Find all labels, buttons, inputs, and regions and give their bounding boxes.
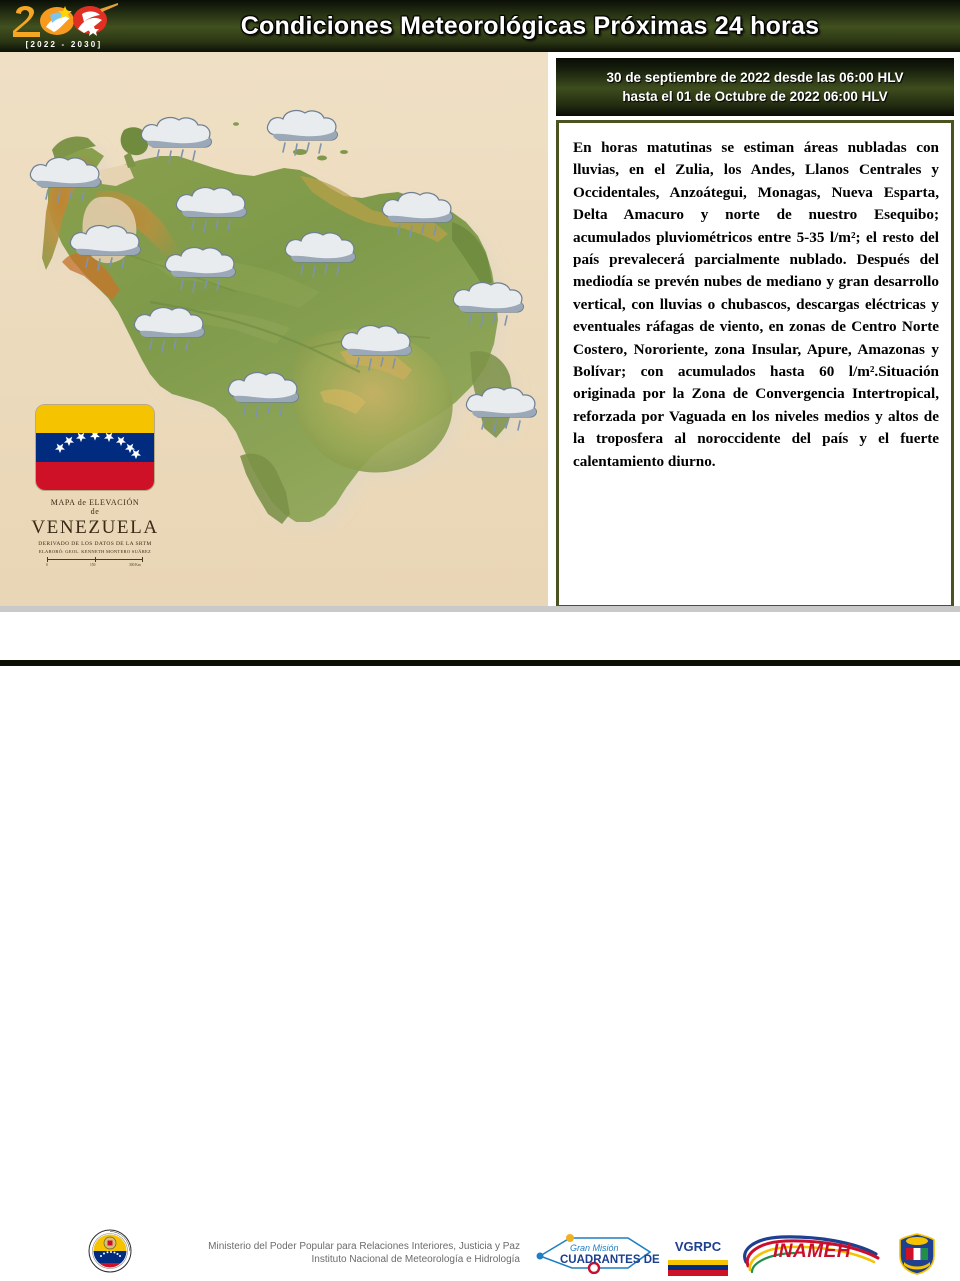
page-footer: Ministerio del Poder Popular para Relaci… (0, 612, 960, 666)
rain-cloud-icon (62, 220, 146, 276)
rain-cloud-icon (168, 182, 252, 238)
bicentennial-200-logo: [2022 - 2030] (10, 3, 118, 49)
page-title: Condiciones Meteorológicas Próximas 24 h… (120, 0, 940, 52)
scale-label-150: 150 (90, 563, 95, 567)
map-caption-line4: ELABORÓ: GEOL. KENNETH MONTERO SUÁREZ (20, 549, 170, 554)
logo-years-label: [2022 - 2030] (10, 40, 118, 49)
rain-cloud-icon (374, 187, 458, 243)
rain-cloud-icon (22, 152, 106, 208)
venezuela-government-seal (88, 1229, 132, 1273)
bottom-strip (0, 660, 960, 666)
rain-cloud-icon (126, 302, 210, 358)
inameh-logo: INAMEH (736, 1232, 886, 1276)
flag-stars (36, 433, 154, 461)
inameh-label: INAMEH (758, 1241, 866, 1263)
vgrpc-label: VGRPC (668, 1232, 728, 1260)
valid-period-line1: 30 de septiembre de 2022 desde las 06:00… (607, 68, 904, 87)
vgrpc-logo: VGRPC (668, 1232, 728, 1276)
page-header: [2022 - 2030] Condiciones Meteorológicas… (0, 0, 960, 52)
svg-text:Gran Misión: Gran Misión (570, 1243, 619, 1253)
map-caption-title: VENEZUELA (20, 517, 170, 539)
rain-cloud-icon (277, 227, 361, 283)
valid-period-line2: hasta el 01 de Octubre de 2022 06:00 HLV (622, 87, 887, 106)
flag-stripe-red (36, 462, 154, 490)
map-caption-line1: MAPA de ELEVACIÓN (20, 498, 170, 507)
ministry-text: Ministerio del Poder Popular para Relaci… (150, 1240, 520, 1266)
map-panel: MAPA de ELEVACIÓN de VENEZUELA DERIVADO … (0, 52, 548, 606)
ministry-line1: Ministerio del Poder Popular para Relaci… (150, 1240, 520, 1253)
forecast-text-panel: En horas matutinas se estiman áreas nubl… (556, 120, 954, 608)
svg-text:CUADRANTES DE PAZ: CUADRANTES DE PAZ (560, 1254, 662, 1266)
rain-cloud-icon (133, 112, 217, 168)
rain-cloud-icon (157, 242, 241, 298)
map-caption: MAPA de ELEVACIÓN de VENEZUELA DERIVADO … (20, 498, 170, 554)
rain-cloud-icon (333, 320, 417, 376)
scale-tick-300 (142, 557, 143, 562)
scale-tick-150 (95, 557, 96, 562)
police-shield-emblem (896, 1232, 938, 1276)
venezuela-flag (35, 404, 155, 491)
forecast-body: En horas matutinas se estiman áreas nubl… (559, 123, 951, 473)
scale-label-0: 0 (46, 563, 48, 567)
valid-period-box: 30 de septiembre de 2022 desde las 06:00… (556, 58, 954, 116)
rain-cloud-icon (458, 382, 542, 438)
map-caption-line2: de (20, 507, 170, 516)
map-caption-line3: DERIVADO DE LOS DATOS DE LA SRTM (20, 541, 170, 547)
map-scale-bar: 0 150 300 Km (47, 557, 143, 569)
rain-cloud-icon (445, 277, 529, 333)
scale-tick-0 (47, 557, 48, 562)
rain-cloud-icon (220, 367, 304, 423)
ministry-line2: Instituto Nacional de Meteorología e Hid… (150, 1253, 520, 1266)
scale-label-300: 300 Km (129, 563, 141, 567)
rain-cloud-icon (259, 105, 343, 161)
gran-mision-cuadrantes-de-paz-logo: Gran Misión CUADRANTES DE PAZ (532, 1232, 662, 1274)
flag-stripe-yellow (36, 405, 154, 433)
